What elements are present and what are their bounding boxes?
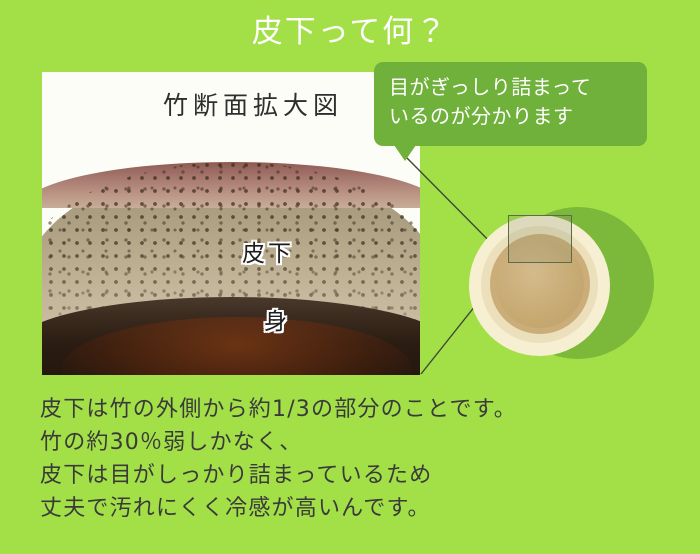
label-hika: 皮下 [242, 234, 294, 268]
body-line-4: 丈夫で汚れにくく冷感が高いんです。 [40, 492, 680, 525]
body-line-2: 竹の約30％弱しかなく、 [40, 426, 680, 459]
callout-line-1: 目がぎっしり詰まって [389, 73, 634, 102]
label-mi: 身 [264, 302, 290, 336]
body-line-1: 皮下は竹の外側から約1/3の部分のことです。 [40, 393, 680, 426]
callout-line-2: いるのが分かります [389, 102, 634, 131]
photo-caption: 竹断面拡大図 [42, 86, 420, 122]
body-copy: 皮下は竹の外側から約1/3の部分のことです。 竹の約30％弱しかなく、 皮下は目… [40, 393, 680, 525]
body-line-3: 皮下は目がしっかり詰まっているため [40, 459, 680, 492]
callout-bubble: 目がぎっしり詰まって いるのが分かります [374, 62, 647, 146]
zoom-selection-box [508, 215, 572, 263]
bamboo-round-illustration [440, 190, 670, 385]
callout-tail [394, 145, 416, 161]
infographic-canvas: 皮下って何？ 竹断面拡大図 皮下 身 目がぎっしり詰まって いるのが分かります … [0, 0, 700, 554]
bamboo-photo-panel: 竹断面拡大図 皮下 身 [42, 72, 420, 375]
page-title: 皮下って何？ [0, 10, 700, 54]
